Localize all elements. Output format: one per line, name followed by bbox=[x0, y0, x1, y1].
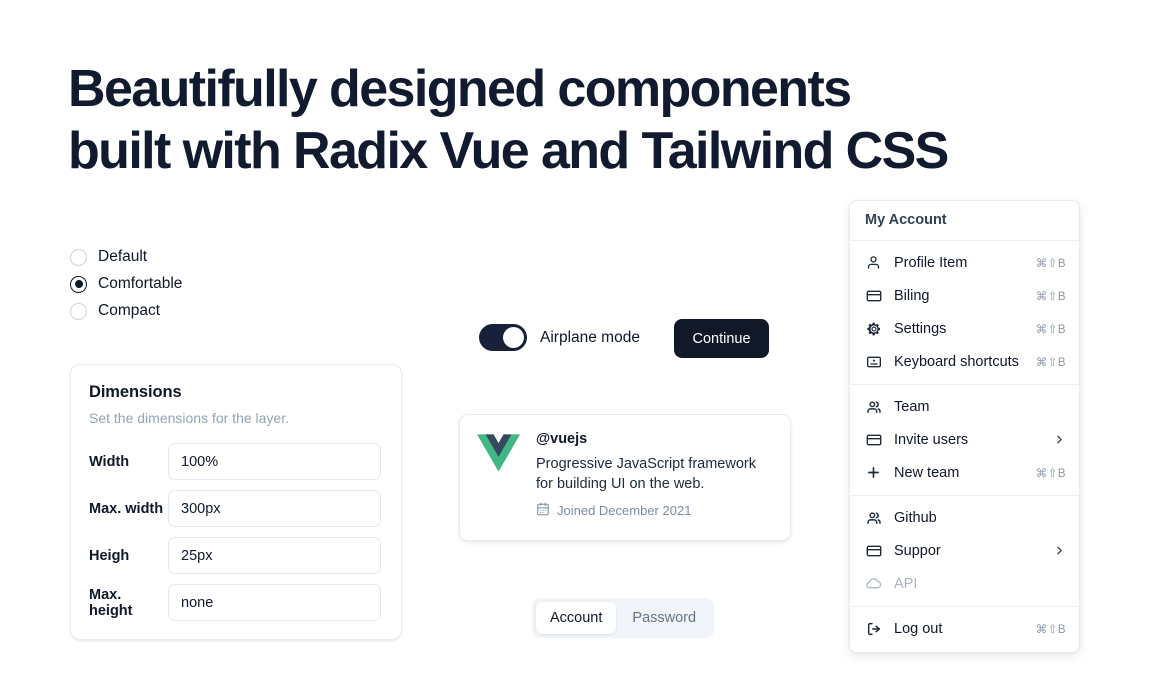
menu-item-api: API bbox=[850, 567, 1079, 600]
menu-item-label: API bbox=[894, 576, 1066, 592]
dimensions-subtitle: Set the dimensions for the layer. bbox=[89, 410, 381, 426]
field-label-max-height: Max. height bbox=[89, 587, 168, 619]
menu-item-github[interactable]: Github bbox=[850, 501, 1079, 534]
max-width-input[interactable] bbox=[168, 490, 381, 527]
menu-item-shortcut: ⌘⇧B bbox=[1036, 622, 1066, 636]
menu-item-label: Invite users bbox=[894, 432, 1041, 448]
radio-indicator-default bbox=[70, 249, 87, 266]
user-icon bbox=[865, 254, 882, 271]
hover-card-body: @vuejs Progressive JavaScript framework … bbox=[536, 431, 773, 524]
radio-option-comfortable[interactable]: Comfortable bbox=[70, 275, 182, 293]
dimensions-title: Dimensions bbox=[89, 383, 381, 402]
calendar-icon bbox=[536, 502, 550, 519]
tab-password[interactable]: Password bbox=[618, 602, 710, 634]
menu-item-label: Biling bbox=[894, 288, 1024, 304]
menu-item-label: Log out bbox=[894, 621, 1024, 637]
airplane-mode-switch-group: Airplane mode bbox=[479, 324, 640, 351]
menu-group-account: Profile Item ⌘⇧B Biling ⌘⇧B bbox=[850, 241, 1079, 384]
users-icon bbox=[865, 509, 882, 526]
hover-card-joined-text: Joined December 2021 bbox=[557, 503, 691, 518]
menu-item-shortcut: ⌘⇧B bbox=[1036, 355, 1066, 369]
dimensions-fields: Width Max. width Heigh Max. height bbox=[89, 443, 381, 621]
width-input[interactable] bbox=[168, 443, 381, 480]
page-root: Beautifully designed components built wi… bbox=[0, 0, 1152, 700]
dimensions-card: Dimensions Set the dimensions for the la… bbox=[70, 364, 402, 640]
credit-card-icon bbox=[865, 431, 882, 448]
field-label-width: Width bbox=[89, 454, 168, 470]
menu-item-label: Github bbox=[894, 510, 1066, 526]
menu-item-keyboard-shortcuts[interactable]: Keyboard shortcuts ⌘⇧B bbox=[850, 345, 1079, 378]
credit-card-icon bbox=[865, 542, 882, 559]
menu-item-label: Profile Item bbox=[894, 255, 1024, 271]
menu-item-new-team[interactable]: New team ⌘⇧B bbox=[850, 456, 1079, 489]
radio-option-compact[interactable]: Compact bbox=[70, 302, 182, 320]
menu-item-shortcut: ⌘⇧B bbox=[1036, 289, 1066, 303]
menu-item-label: New team bbox=[894, 465, 1024, 481]
chevron-right-icon bbox=[1053, 544, 1066, 557]
page-title-line-1: Beautifully designed components bbox=[68, 58, 1028, 120]
menu-item-label: Team bbox=[894, 399, 1066, 415]
keyboard-icon bbox=[865, 353, 882, 370]
plus-icon bbox=[865, 464, 882, 481]
menu-group-resources: Github Suppor bbox=[850, 496, 1079, 606]
chevron-right-icon bbox=[1053, 433, 1066, 446]
field-row-max-width: Max. width bbox=[89, 490, 381, 527]
menu-item-support[interactable]: Suppor bbox=[850, 534, 1079, 567]
height-input[interactable] bbox=[168, 537, 381, 574]
menu-item-label: Settings bbox=[894, 321, 1024, 337]
switch-knob bbox=[503, 327, 524, 348]
menu-item-profile[interactable]: Profile Item ⌘⇧B bbox=[850, 246, 1079, 279]
hover-card-description: Progressive JavaScript framework for bui… bbox=[536, 454, 773, 494]
vue-logo-icon bbox=[477, 434, 520, 472]
menu-item-log-out[interactable]: Log out ⌘⇧B bbox=[850, 612, 1079, 645]
menu-item-team[interactable]: Team bbox=[850, 390, 1079, 423]
menu-item-label: Keyboard shortcuts bbox=[894, 354, 1024, 370]
menu-item-billing[interactable]: Biling ⌘⇧B bbox=[850, 279, 1079, 312]
users-icon bbox=[865, 398, 882, 415]
menu-item-shortcut: ⌘⇧B bbox=[1036, 256, 1066, 270]
field-label-height: Heigh bbox=[89, 548, 168, 564]
field-row-max-height: Max. height bbox=[89, 584, 381, 621]
hover-card-joined: Joined December 2021 bbox=[536, 502, 773, 519]
menu-group-team: Team Invite users bbox=[850, 385, 1079, 495]
menu-item-invite-users[interactable]: Invite users bbox=[850, 423, 1079, 456]
page-title-line-2: built with Radix Vue and Tailwind CSS bbox=[68, 120, 1028, 182]
max-height-input[interactable] bbox=[168, 584, 381, 621]
cloud-icon bbox=[865, 575, 882, 592]
gear-icon bbox=[865, 320, 882, 337]
continue-button[interactable]: Continue bbox=[674, 319, 769, 358]
vue-hover-card: @vuejs Progressive JavaScript framework … bbox=[459, 414, 791, 541]
radio-indicator-compact bbox=[70, 303, 87, 320]
menu-item-label: Suppor bbox=[894, 543, 1041, 559]
menu-item-shortcut: ⌘⇧B bbox=[1036, 466, 1066, 480]
menu-header: My Account bbox=[850, 201, 1079, 240]
menu-item-shortcut: ⌘⇧B bbox=[1036, 322, 1066, 336]
credit-card-icon bbox=[865, 287, 882, 304]
page-title: Beautifully designed components built wi… bbox=[68, 58, 1028, 182]
account-dropdown-menu: My Account Profile Item ⌘⇧B Bili bbox=[849, 200, 1080, 653]
hover-card-handle: @vuejs bbox=[536, 431, 773, 447]
settings-tabs: Account Password bbox=[532, 598, 714, 638]
field-row-height: Heigh bbox=[89, 537, 381, 574]
logout-icon bbox=[865, 620, 882, 637]
airplane-mode-label: Airplane mode bbox=[540, 329, 640, 347]
menu-group-session: Log out ⌘⇧B bbox=[850, 607, 1079, 651]
airplane-mode-switch[interactable] bbox=[479, 324, 527, 351]
field-row-width: Width bbox=[89, 443, 381, 480]
radio-label-default: Default bbox=[98, 248, 147, 266]
radio-label-comfortable: Comfortable bbox=[98, 275, 182, 293]
field-label-max-width: Max. width bbox=[89, 501, 168, 517]
tab-account[interactable]: Account bbox=[536, 602, 616, 634]
menu-item-settings[interactable]: Settings ⌘⇧B bbox=[850, 312, 1079, 345]
radio-label-compact: Compact bbox=[98, 302, 160, 320]
density-radio-group: Default Comfortable Compact bbox=[70, 248, 182, 320]
radio-indicator-comfortable bbox=[70, 276, 87, 293]
radio-option-default[interactable]: Default bbox=[70, 248, 182, 266]
